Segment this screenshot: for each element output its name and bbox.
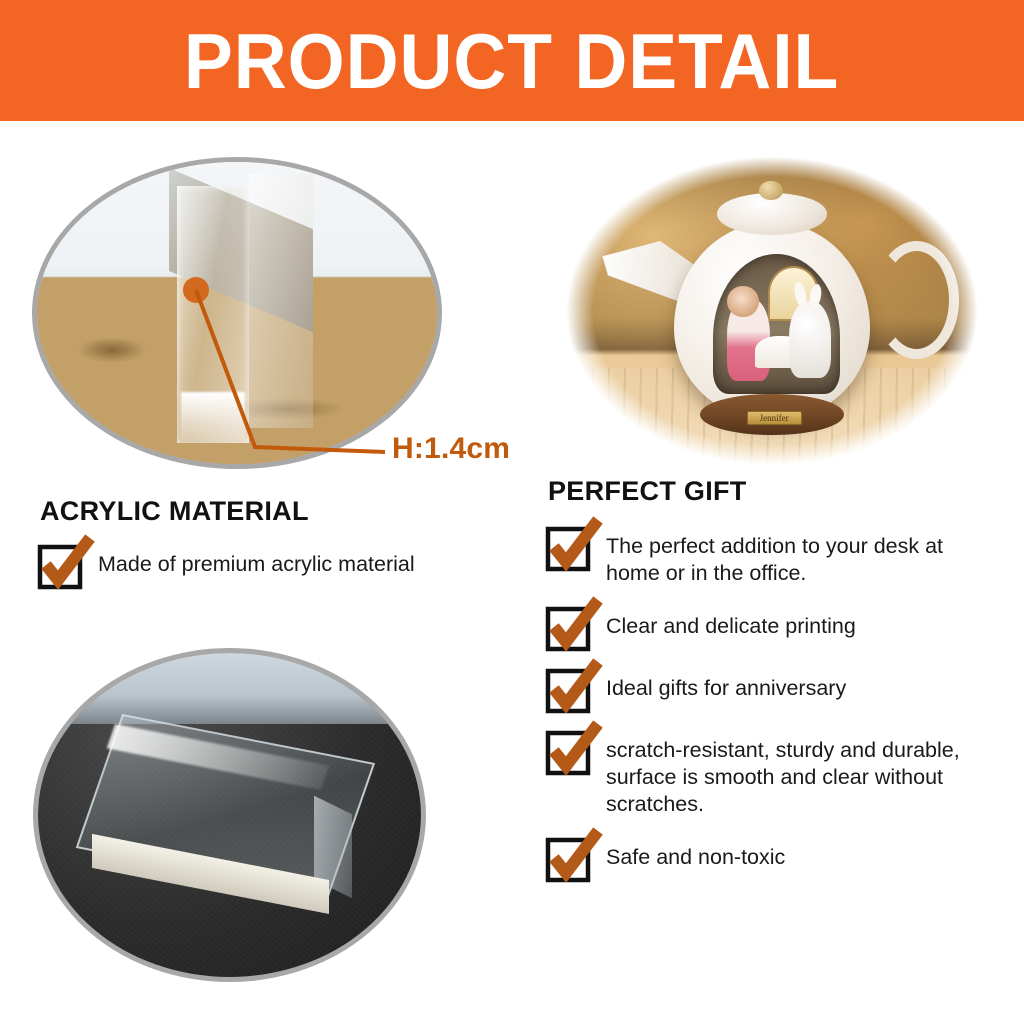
feature-text: scratch-resistant, sturdy and durable, s… [606, 731, 1000, 818]
checkbox-checked-icon [40, 545, 82, 587]
acrylic-side-face [249, 174, 313, 428]
checkmark-icon [546, 594, 604, 652]
checkmark-icon [38, 532, 96, 590]
feature-text: Clear and delicate printing [606, 607, 856, 640]
checkmark-icon [546, 718, 604, 776]
nameplate-text: Jennifer [760, 413, 789, 423]
slate-top-edge [38, 653, 421, 724]
feature-text: Safe and non-toxic [606, 838, 785, 871]
feature-text: The perfect addition to your desk at hom… [606, 527, 1000, 587]
feature-item: Clear and delicate printing [548, 607, 1000, 649]
teapot-lid-knob [759, 181, 782, 200]
page-title: PRODUCT DETAIL [184, 22, 839, 100]
photo-acrylic-edge [32, 157, 442, 469]
header-banner: PRODUCT DETAIL [0, 0, 1024, 121]
acrylic-material-section: ACRYLIC MATERIAL Made of premium acrylic… [40, 496, 520, 587]
height-measurement-label: H:1.4cm [392, 432, 510, 466]
teapot-handle [874, 241, 959, 359]
gift-section-title: PERFECT GIFT [548, 476, 1000, 507]
feature-item: Made of premium acrylic material [40, 545, 520, 587]
figurine-bunny [789, 301, 831, 377]
photo-teapot-figurine: Jennifer [560, 152, 984, 470]
nameplate: Jennifer [747, 411, 802, 424]
checkmark-icon [546, 514, 604, 572]
feature-text: Made of premium acrylic material [98, 545, 415, 578]
acrylic-section-title: ACRYLIC MATERIAL [40, 496, 520, 527]
checkbox-checked-icon [548, 527, 590, 569]
checkmark-icon [546, 825, 604, 883]
checkbox-checked-icon [548, 669, 590, 711]
feature-item: Safe and non-toxic [548, 838, 1000, 880]
product-detail-page: PRODUCT DETAIL H:1.4cm [0, 0, 1024, 1024]
checkbox-checked-icon [548, 607, 590, 649]
feature-item: scratch-resistant, sturdy and durable, s… [548, 731, 1000, 818]
checkbox-checked-icon [548, 838, 590, 880]
perfect-gift-section: PERFECT GIFT The perfect addition to you… [548, 476, 1000, 880]
checkbox-checked-icon [548, 731, 590, 773]
photo-acrylic-block [33, 648, 426, 982]
feature-text: Ideal gifts for anniversary [606, 669, 846, 702]
feature-item: The perfect addition to your desk at hom… [548, 527, 1000, 587]
acrylic-highlight [181, 392, 245, 440]
feature-item: Ideal gifts for anniversary [548, 669, 1000, 711]
checkmark-icon [546, 656, 604, 714]
wood-knot [77, 337, 147, 363]
